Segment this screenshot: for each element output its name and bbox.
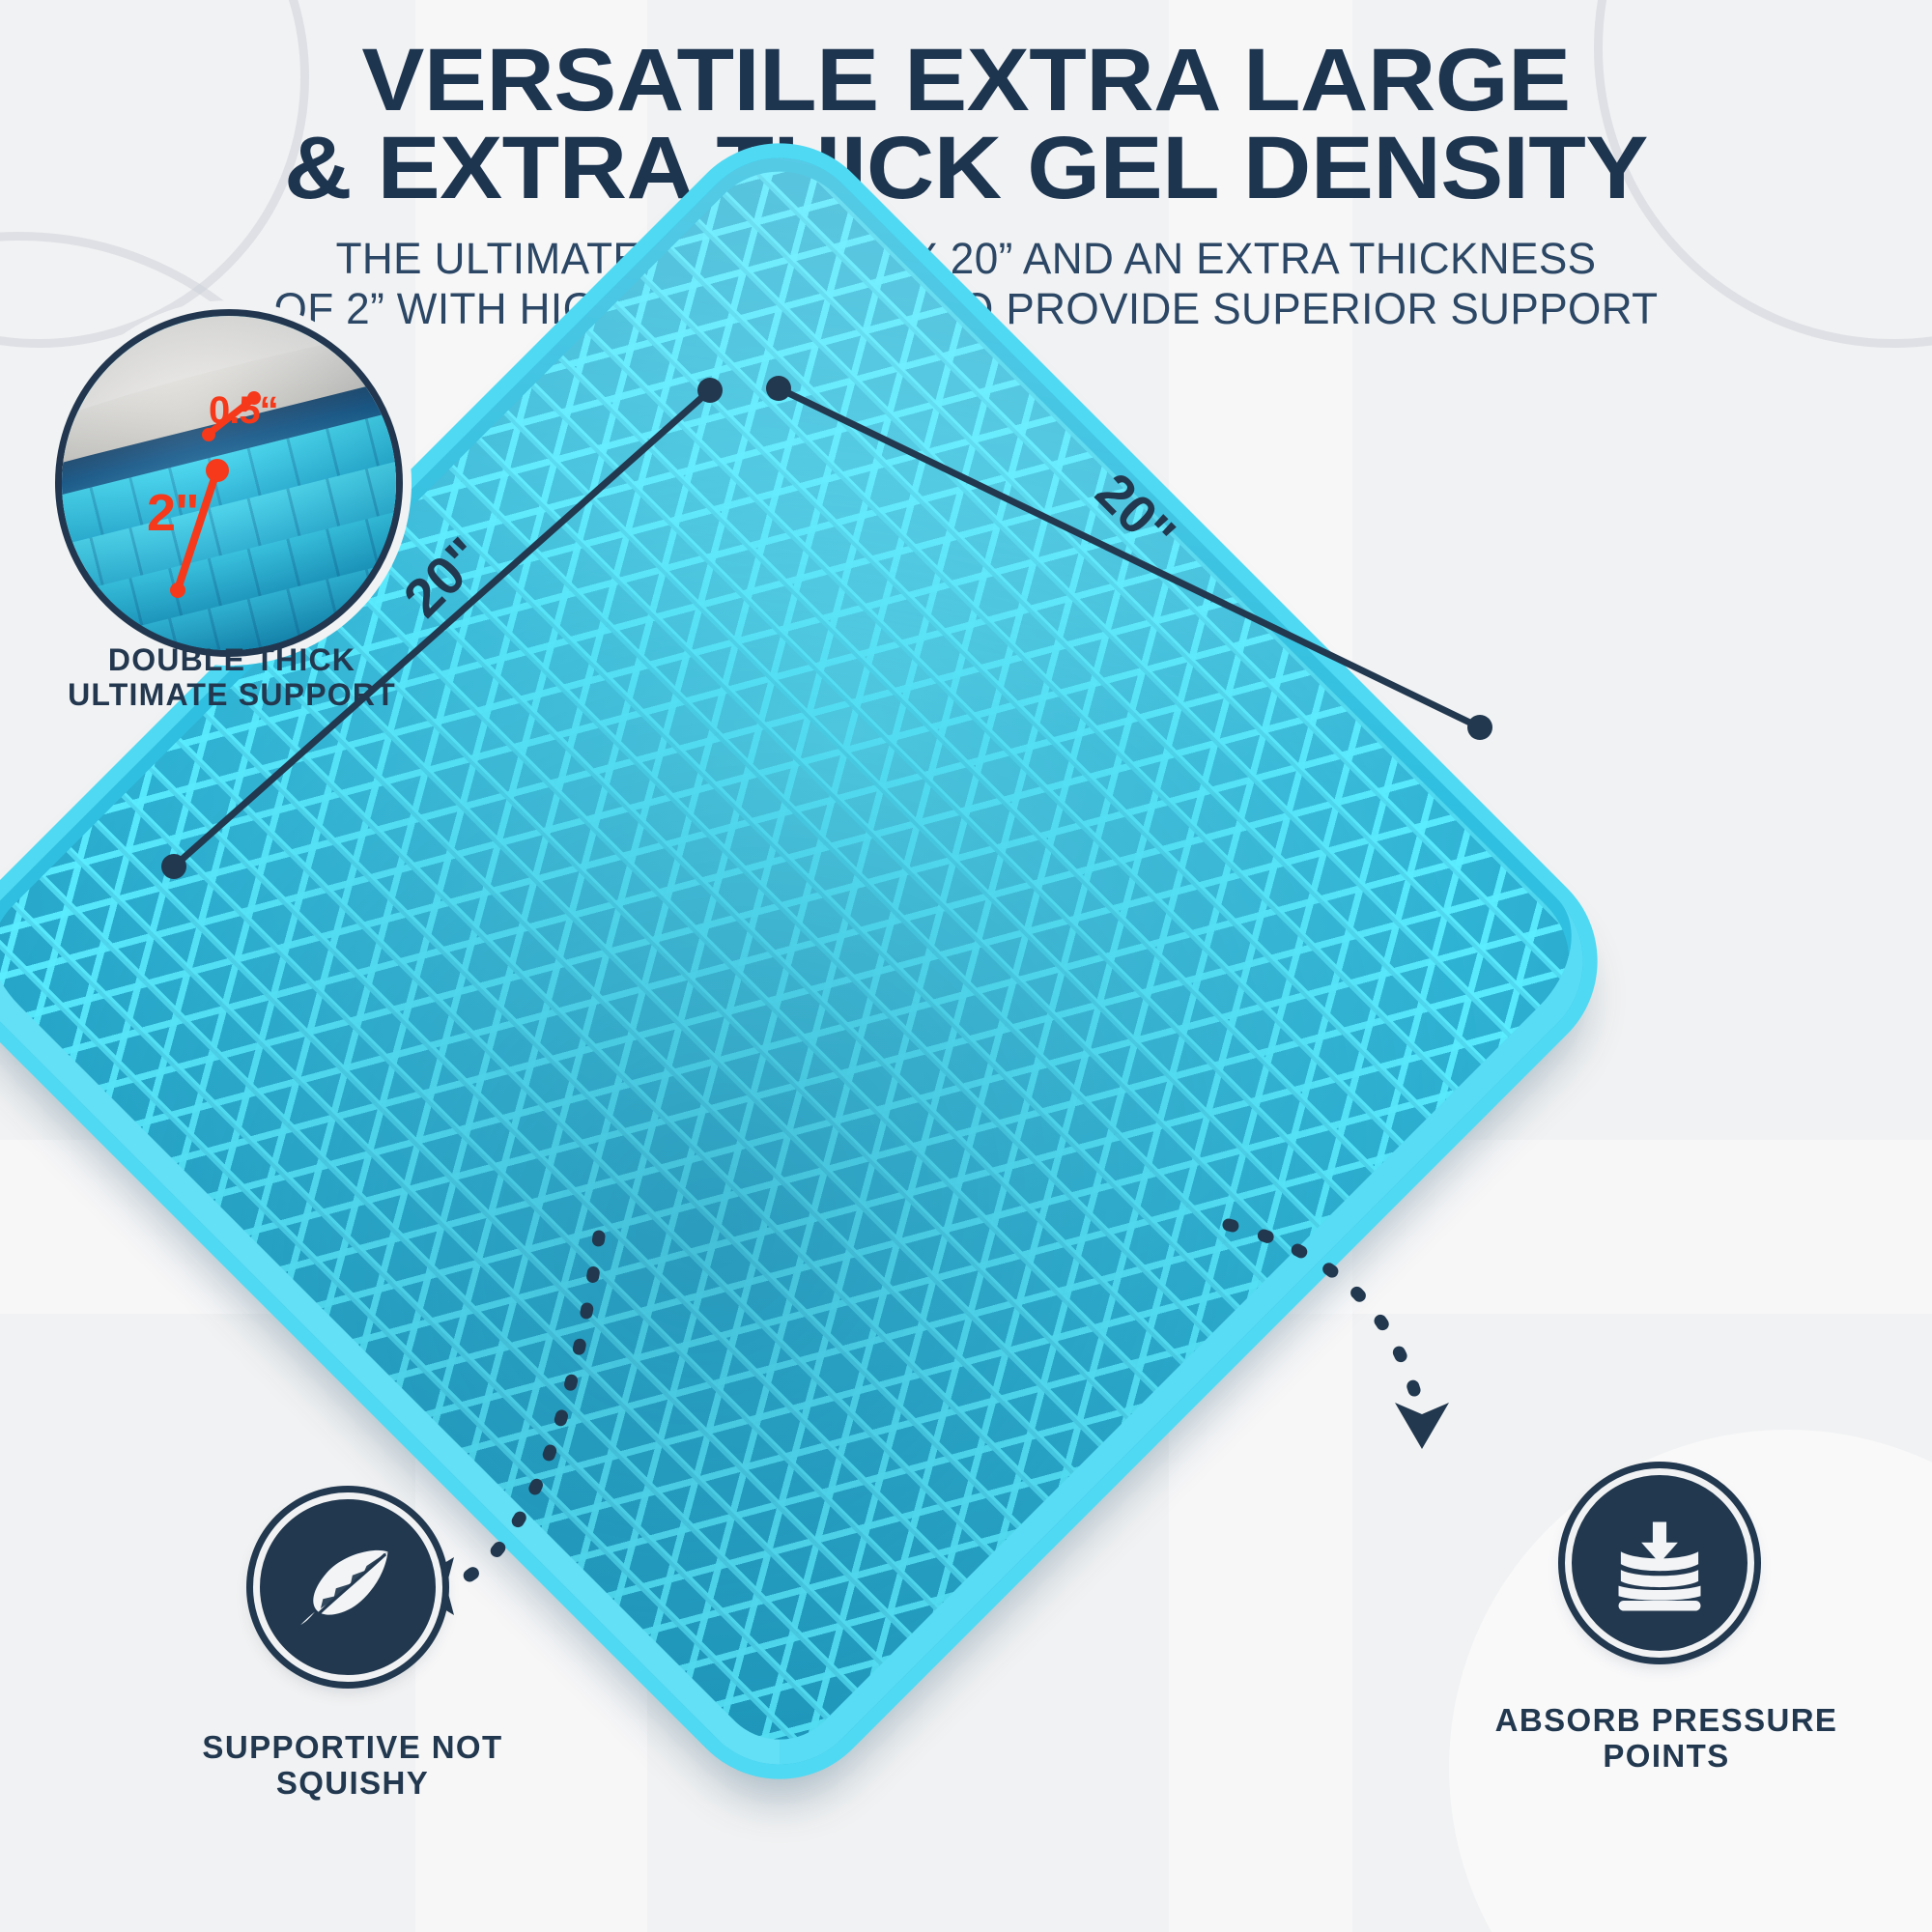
page-title: VERSATILE EXTRA LARGE & EXTRA THICK GEL …: [0, 0, 1932, 213]
inset-circle: [55, 309, 403, 657]
feather-icon: [289, 1528, 407, 1646]
callout-foam-thickness: 0.5“: [209, 389, 278, 433]
cross-section-inset: [55, 309, 403, 657]
feature-caption-supportive-line-2: SQUISHY: [126, 1765, 580, 1801]
headline-line-1: VERSATILE EXTRA LARGE: [0, 0, 1932, 125]
feature-badge-absorb: [1565, 1468, 1754, 1658]
inset-caption-line-1: DOUBLE THICK: [10, 642, 454, 677]
inset-caption: DOUBLE THICK ULTIMATE SUPPORT: [10, 642, 454, 713]
headline-line-2: & EXTRA THICK GEL DENSITY: [0, 125, 1932, 213]
feature-caption-absorb-line-2: POINTS: [1439, 1738, 1893, 1774]
inset-caption-line-2: ULTIMATE SUPPORT: [10, 677, 454, 712]
subtitle-line-1: THE ULTIMATE SIZE OF 20” X 20” AND AN EX…: [19, 234, 1913, 284]
compression-arrow-icon: [1603, 1506, 1717, 1620]
feature-caption-supportive: SUPPORTIVE NOT SQUISHY: [126, 1729, 580, 1802]
feature-caption-supportive-line-1: SUPPORTIVE NOT: [126, 1729, 580, 1765]
feature-caption-absorb-line-1: ABSORB PRESSURE: [1439, 1702, 1893, 1738]
inset-shading: [62, 316, 396, 650]
header: VERSATILE EXTRA LARGE & EXTRA THICK GEL …: [0, 0, 1932, 335]
feature-caption-absorb: ABSORB PRESSURE POINTS: [1439, 1702, 1893, 1775]
callout-gel-thickness: 2": [147, 483, 199, 543]
feature-badge-supportive: [253, 1492, 442, 1682]
